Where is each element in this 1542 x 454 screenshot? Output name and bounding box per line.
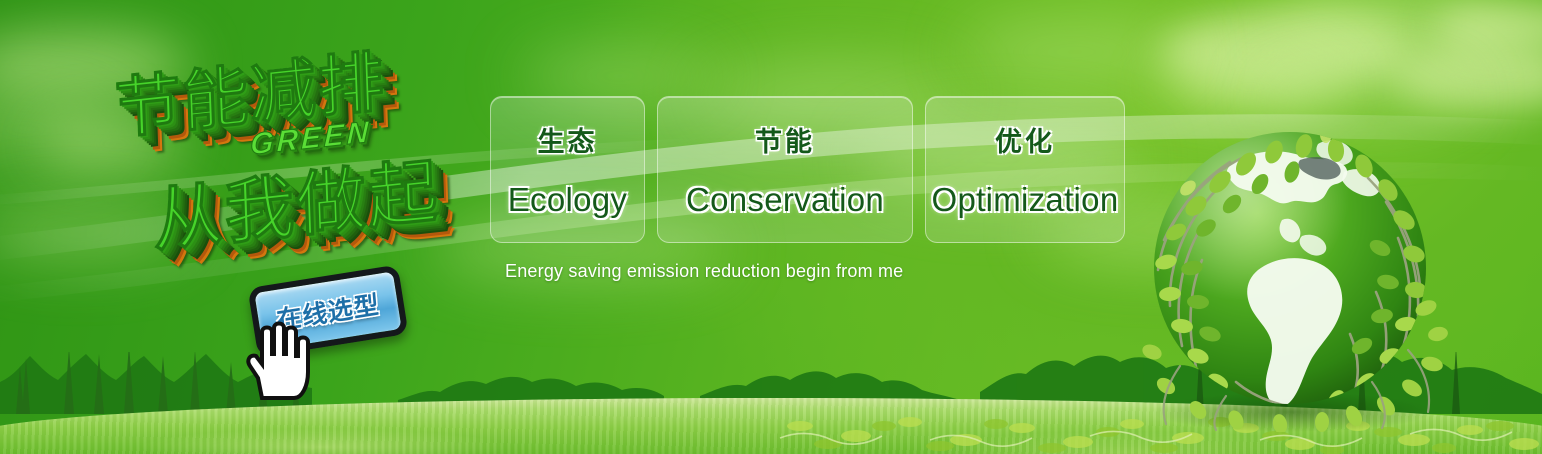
- feature-card-conservation[interactable]: 节能 Conservation: [657, 96, 913, 243]
- feature-card-optimization-en: Optimization: [931, 181, 1118, 219]
- online-selection-button[interactable]: 在线选型: [247, 265, 408, 358]
- headline-green-word: GREEN: [250, 115, 372, 162]
- feature-cards: 生态 Ecology 节能 Conservation 优化 Optimizati…: [490, 96, 1125, 243]
- headline-line-2: 从我做起: [151, 135, 441, 266]
- feature-card-optimization[interactable]: 优化 Optimization: [925, 96, 1125, 243]
- green-vine-globe-icon: [1140, 120, 1450, 432]
- online-selection-button-label: 在线选型: [275, 285, 381, 337]
- feature-card-optimization-cn: 优化: [995, 120, 1055, 159]
- feature-card-ecology-cn: 生态: [538, 120, 598, 159]
- hero-headline: 节能减排 GREEN 从我做起: [100, 38, 480, 273]
- banner-tagline: Energy saving emission reduction begin f…: [505, 261, 903, 282]
- feature-card-conservation-en: Conservation: [686, 181, 884, 219]
- online-selection-button-wrap[interactable]: 在线选型: [247, 265, 408, 358]
- feature-card-conservation-cn: 节能: [755, 120, 815, 159]
- feature-card-ecology[interactable]: 生态 Ecology: [490, 96, 645, 243]
- eco-hero-banner: 节能减排 GREEN 从我做起 在线选型 生态 Ecology 节能 Conse…: [0, 0, 1542, 454]
- feature-card-ecology-en: Ecology: [508, 181, 628, 219]
- headline-line-1: 节能减排: [113, 28, 387, 153]
